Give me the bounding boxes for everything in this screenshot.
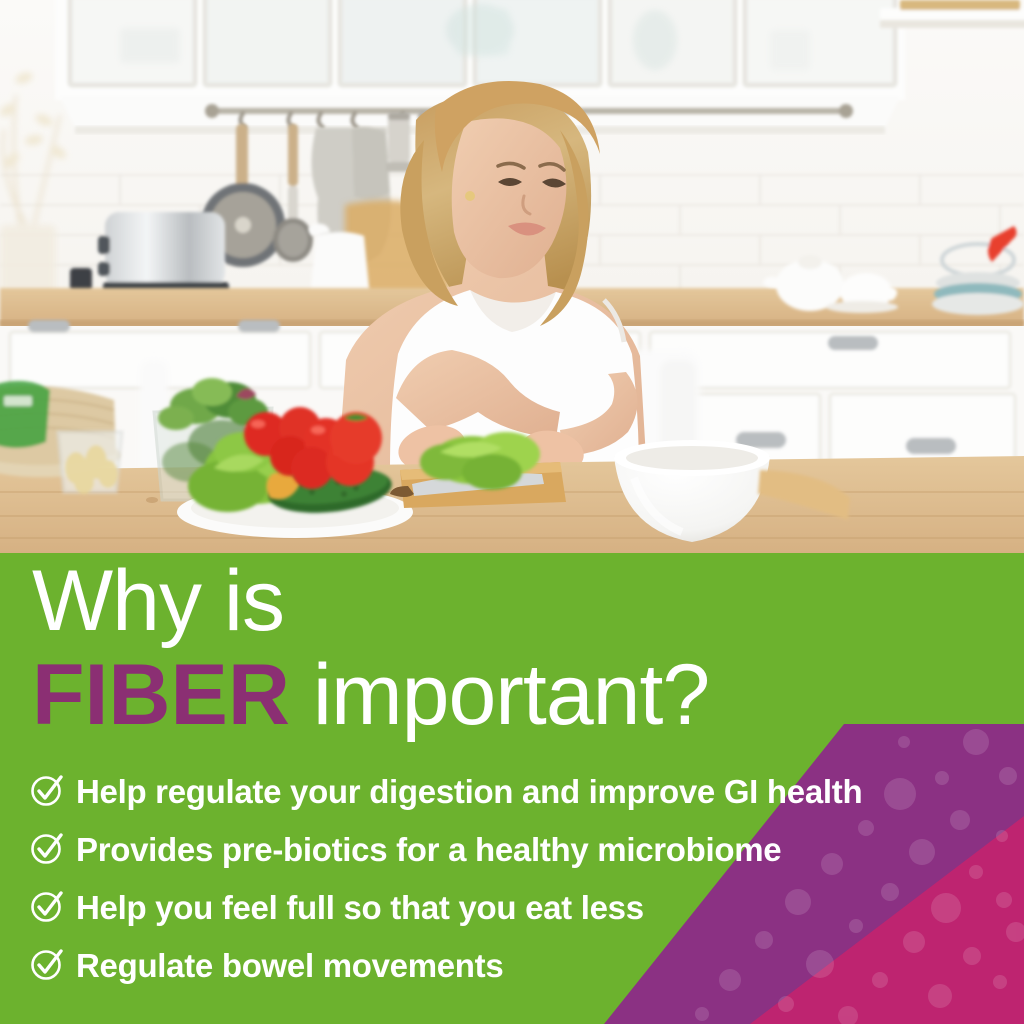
kitchen-scene-illustration [0,0,1024,553]
headline-line-2: FIBER important? [32,653,972,737]
glass-container [58,432,122,494]
benefit-text: Help you feel full so that you eat less [76,891,644,924]
list-item: Help you feel full so that you eat less [30,879,990,935]
list-item: Provides pre-biotics for a healthy micro… [30,821,990,877]
check-circle-icon [30,773,64,807]
list-item: Regulate bowel movements [30,937,990,993]
headline-block: Why is FIBER important? [32,559,972,738]
content-panel: Why is FIBER important? Help regulate yo… [0,553,1024,1024]
list-item: Help regulate your digestion and improve… [30,763,990,819]
check-circle-icon [30,947,64,981]
check-circle-icon [30,831,64,865]
benefit-text: Regulate bowel movements [76,949,503,982]
benefit-text: Help regulate your digestion and improve… [76,775,862,808]
hero-photo [0,0,1024,553]
wall-shelf [880,0,1024,28]
check-circle-icon [30,889,64,923]
headline-fiber-word: FIBER [32,647,290,743]
headline-important-word: important? [290,647,709,743]
benefit-text: Provides pre-biotics for a healthy micro… [76,833,781,866]
benefits-list: Help regulate your digestion and improve… [30,763,990,995]
headline-line-1: Why is [32,559,972,643]
poster: Why is FIBER important? Help regulate yo… [0,0,1024,1024]
